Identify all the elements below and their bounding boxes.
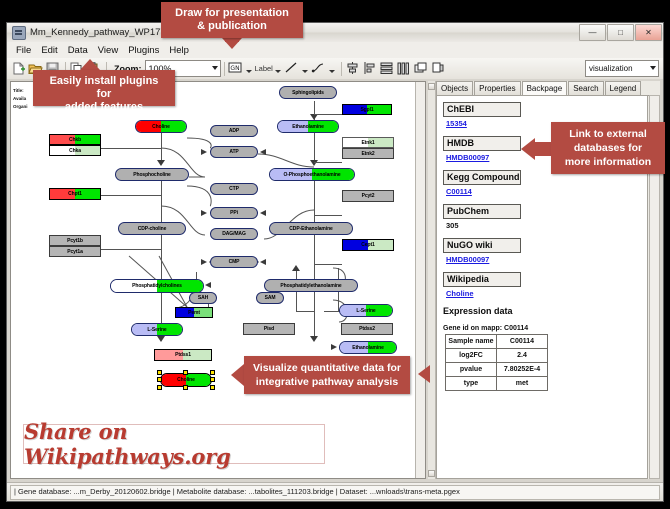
node-label: Choline: [177, 377, 195, 383]
align-left-icon[interactable]: [362, 61, 377, 76]
node-label: SAH: [198, 295, 208, 301]
visualization-combobox[interactable]: visualization: [585, 60, 659, 77]
node-adp[interactable]: ADP: [210, 125, 258, 137]
callout-draw-line1: Draw for presentation: [169, 7, 295, 20]
new-file-icon[interactable]: [11, 61, 26, 76]
gene-id-line: Gene id on mapp: C00114: [443, 325, 641, 332]
node-label: Choline: [152, 124, 170, 130]
callout-expression-pointer: [418, 365, 430, 383]
link-kegg[interactable]: C00114: [446, 187, 641, 196]
selection-handle[interactable]: [183, 385, 188, 390]
node-cdp-choline[interactable]: CDP-choline: [118, 222, 186, 235]
maximize-button[interactable]: □: [607, 24, 634, 41]
app-icon: [12, 26, 26, 40]
pathway-canvas[interactable]: Title: Availa Organi: [10, 81, 426, 479]
section-header-wikipedia: Wikipedia: [443, 272, 521, 287]
node-label: Ptdss2: [359, 326, 375, 332]
tab-search[interactable]: Search: [568, 81, 603, 95]
menu-file[interactable]: File: [11, 43, 36, 58]
canvas-vertical-scrollbar[interactable]: [415, 82, 425, 478]
node-o-phosphoethanolamine[interactable]: O-Phosphoethanolamine: [269, 168, 355, 181]
arrow-right-icon: [201, 259, 207, 265]
node-label: Pcyt1a: [67, 249, 83, 255]
status-text: | Gene database: ...m_Derby_20120602.bri…: [10, 485, 660, 500]
selection-handle[interactable]: [210, 377, 215, 382]
arrow-left-icon: [260, 149, 266, 155]
node-atp[interactable]: ATP: [210, 146, 258, 158]
link-nugo-wiki[interactable]: HMDB00097: [446, 255, 641, 264]
node-ethanolamine-top[interactable]: Ethanolamine: [277, 120, 339, 133]
maximize-icon: □: [608, 26, 633, 39]
panel-splitter[interactable]: [428, 81, 436, 479]
tab-legend[interactable]: Legend: [605, 81, 642, 95]
node-label: Etnk1: [361, 140, 374, 146]
tab-objects[interactable]: Objects: [436, 81, 473, 95]
callout-links-line3: more information: [559, 155, 657, 169]
row-key: log2FC: [446, 349, 497, 363]
section-header-pubchem: PubChem: [443, 204, 521, 219]
node-label: Ethanolamine: [292, 124, 324, 130]
node-label: L-Serine: [147, 327, 166, 333]
node-label: Pisd: [264, 326, 274, 332]
node-ctp[interactable]: CTP: [210, 183, 258, 195]
callout-links-line1: Link to external: [559, 127, 657, 141]
callout-draw-line2: & publication: [169, 20, 295, 33]
arrow-left-icon: [260, 210, 266, 216]
arrow-right-icon: [201, 210, 207, 216]
send-to-back-icon[interactable]: [430, 61, 445, 76]
minimize-button[interactable]: —: [579, 24, 606, 41]
menu-view[interactable]: View: [93, 43, 123, 58]
gene-etnk1[interactable]: Etnk1: [342, 137, 394, 148]
window-buttons: — □ ✕: [579, 24, 663, 41]
gene-cept1[interactable]: Cept1: [342, 239, 394, 251]
callout-visualize: Visualize quantitative data for integrat…: [244, 356, 410, 394]
callout-plugins-line2: added features: [41, 101, 167, 114]
node-label: ADP: [229, 128, 239, 134]
table-row: type met: [446, 377, 548, 391]
expression-table: Sample name C00114 log2FC 2.4 pvalue 7.8…: [445, 334, 548, 391]
align-center-icon[interactable]: [345, 61, 360, 76]
selection-handle[interactable]: [183, 370, 188, 375]
node-label: O-Phosphoethanolamine: [283, 172, 340, 178]
visualization-value: visualization: [586, 64, 633, 73]
gene-etnk2[interactable]: Etnk2: [342, 148, 394, 159]
node-label: Phosphatidylethanolamine: [280, 283, 341, 289]
callout-visualize-line1: Visualize quantitative data for: [252, 361, 402, 375]
callout-plugins: Easily install plugins for added feature…: [33, 70, 175, 106]
arrow-right-icon: [201, 149, 207, 155]
tab-properties[interactable]: Properties: [474, 81, 520, 95]
menu-data[interactable]: Data: [63, 43, 93, 58]
node-label: Etnk2: [361, 151, 374, 157]
expression-data-title: Expression data: [443, 306, 641, 316]
selection-handle[interactable]: [157, 377, 162, 382]
row-key: type: [446, 377, 497, 391]
minimize-icon: —: [580, 26, 605, 39]
link-wikipedia[interactable]: Choline: [446, 289, 641, 298]
row-value: C00114: [497, 335, 548, 349]
menu-edit[interactable]: Edit: [36, 43, 62, 58]
menu-plugins[interactable]: Plugins: [123, 43, 164, 58]
section-header-hmdb: HMDB: [443, 136, 521, 151]
node-sphingolipids[interactable]: Sphingolipids: [279, 86, 337, 99]
callout-links-pointer: [521, 138, 535, 160]
node-label: CTP: [229, 186, 239, 192]
node-choline-top[interactable]: Choline: [135, 120, 187, 133]
menu-bar: File Edit Data View Plugins Help: [7, 42, 663, 59]
node-phosphatidylcholines[interactable]: Phosphatidylcholines: [110, 279, 204, 293]
toolbar-separator: [341, 62, 342, 76]
node-l-serine-right[interactable]: L-Serine: [339, 304, 393, 317]
node-phosphatidylethanolamine[interactable]: Phosphatidylethanolamine: [264, 279, 358, 292]
node-label: Chpt1: [68, 191, 82, 197]
row-key: pvalue: [446, 363, 497, 377]
chevron-down-icon[interactable]: [329, 70, 335, 73]
gene-pcyt1b[interactable]: Pcyt1b: [49, 235, 101, 246]
node-sah[interactable]: SAH: [189, 292, 217, 304]
toolbar-separator: [224, 62, 225, 76]
gene-ptdss1[interactable]: Ptdss1: [154, 349, 212, 361]
node-label: Chka: [69, 148, 81, 154]
value-pubchem: 305: [446, 221, 641, 230]
node-ethanolamine-bottom[interactable]: Ethanolamine: [339, 341, 397, 354]
screenshot-root: Mm_Kennedy_pathway_WP1771_45176.gpml — □…: [0, 0, 670, 509]
gene-pisd[interactable]: Pisd: [243, 323, 295, 335]
line-tool-icon[interactable]: [284, 61, 299, 76]
bring-to-front-icon[interactable]: [413, 61, 428, 76]
node-label: Sphingolipids: [292, 90, 324, 96]
selection-handle[interactable]: [210, 370, 215, 375]
share-text: Share on Wikipathways.org: [24, 419, 324, 469]
status-bar: | Gene database: ...m_Derby_20120602.bri…: [7, 482, 663, 501]
distribute-horizontal-icon[interactable]: [396, 61, 411, 76]
close-button[interactable]: ✕: [635, 24, 662, 41]
node-label: DAG/MAG: [222, 231, 245, 237]
gene-sgpl1[interactable]: Sgpl1: [342, 104, 392, 115]
node-label: Sgpl1: [360, 107, 373, 113]
selection-handle[interactable]: [157, 385, 162, 390]
arrow-left-icon: [260, 259, 266, 265]
node-label: CMP: [229, 259, 240, 265]
title-bar: Mm_Kennedy_pathway_WP1771_45176.gpml — □…: [7, 23, 663, 43]
node-cmp[interactable]: CMP: [210, 256, 258, 268]
node-label: Phosphocholine: [133, 172, 171, 178]
selection-handle[interactable]: [157, 370, 162, 375]
chevron-down-icon: [650, 66, 656, 70]
row-value: 7.80252E-4: [497, 363, 548, 377]
callout-draw: Draw for presentation & publication: [161, 2, 303, 38]
node-phosphocholine[interactable]: Phosphocholine: [115, 168, 189, 181]
node-label: Ptdss1: [175, 352, 191, 358]
gene-chka[interactable]: Chka: [49, 145, 101, 156]
node-dag-mag[interactable]: DAG/MAG: [210, 228, 258, 240]
node-label: Pcyt2: [362, 193, 375, 199]
data-node-icon[interactable]: GN: [228, 61, 243, 76]
gene-pcyt2[interactable]: Pcyt2: [342, 190, 394, 202]
menu-help[interactable]: Help: [164, 43, 194, 58]
node-label: CDP-choline: [138, 226, 167, 232]
selection-handle[interactable]: [210, 385, 215, 390]
node-label: L-Serine: [356, 308, 375, 314]
share-callout: Share on Wikipathways.org: [23, 424, 325, 464]
svg-text:GN: GN: [230, 65, 239, 72]
gene-pemt[interactable]: Pemt: [175, 307, 213, 318]
distribute-vertical-icon[interactable]: [379, 61, 394, 76]
node-label: CDP-Ethanolamine: [289, 226, 332, 232]
gene-pcyt1a[interactable]: Pcyt1a: [49, 246, 101, 257]
section-header-chebi: ChEBI: [443, 102, 521, 117]
section-header-kegg: Kegg Compound: [443, 170, 521, 185]
node-label: SAM: [265, 295, 276, 301]
node-label: Cept1: [361, 242, 374, 248]
row-key: Sample name: [446, 335, 497, 349]
table-row: log2FC 2.4: [446, 349, 548, 363]
tab-backpage[interactable]: Backpage: [522, 81, 568, 96]
node-label: Pemt: [188, 310, 200, 316]
scroll-down-button[interactable]: [428, 470, 435, 477]
arrow-left-icon: [205, 282, 211, 288]
callout-plugins-line1: Easily install plugins for: [41, 75, 167, 101]
table-row: pvalue 7.80252E-4: [446, 363, 548, 377]
gene-chpt1[interactable]: Chpt1: [49, 188, 101, 200]
callout-links-line2: databases for: [559, 141, 657, 155]
gene-ptdss2[interactable]: Ptdss2: [341, 323, 393, 335]
gene-chkb[interactable]: Chkb: [49, 134, 101, 145]
node-label: Pcyt1b: [67, 238, 83, 244]
section-header-nugo-wiki: NuGO wiki: [443, 238, 521, 253]
arrow-right-icon: [331, 344, 337, 350]
close-icon: ✕: [636, 26, 661, 39]
row-value: met: [497, 377, 548, 391]
node-label: Chkb: [69, 137, 81, 143]
side-panel-tabs: Objects Properties Backpage Search Legen…: [436, 81, 660, 96]
node-l-serine-left[interactable]: L-Serine: [131, 323, 183, 336]
table-row: Sample name C00114: [446, 335, 548, 349]
node-ppi[interactable]: PPi: [210, 207, 258, 219]
node-cdp-ethanolamine[interactable]: CDP-Ethanolamine: [269, 222, 353, 235]
node-sam[interactable]: SAM: [256, 292, 284, 304]
node-label: Ethanolamine: [352, 345, 384, 351]
callout-visualize-line2: integrative pathway analysis: [252, 375, 402, 389]
arrow-up-icon: [292, 265, 300, 271]
edge-segment: [296, 311, 314, 312]
node-label: Phosphatidylcholines: [132, 283, 182, 289]
scroll-up-button[interactable]: [428, 83, 435, 90]
node-label: ATP: [229, 149, 238, 155]
interaction-tool-icon[interactable]: [311, 61, 326, 76]
row-value: 2.4: [497, 349, 548, 363]
chevron-down-icon[interactable]: [302, 70, 308, 73]
chevron-down-icon[interactable]: [275, 70, 281, 73]
node-label: PPi: [230, 210, 238, 216]
callout-links: Link to external databases for more info…: [551, 122, 665, 174]
label-tool-button[interactable]: Label: [255, 64, 273, 73]
chevron-down-icon: [212, 66, 218, 70]
chevron-down-icon[interactable]: [246, 70, 252, 73]
